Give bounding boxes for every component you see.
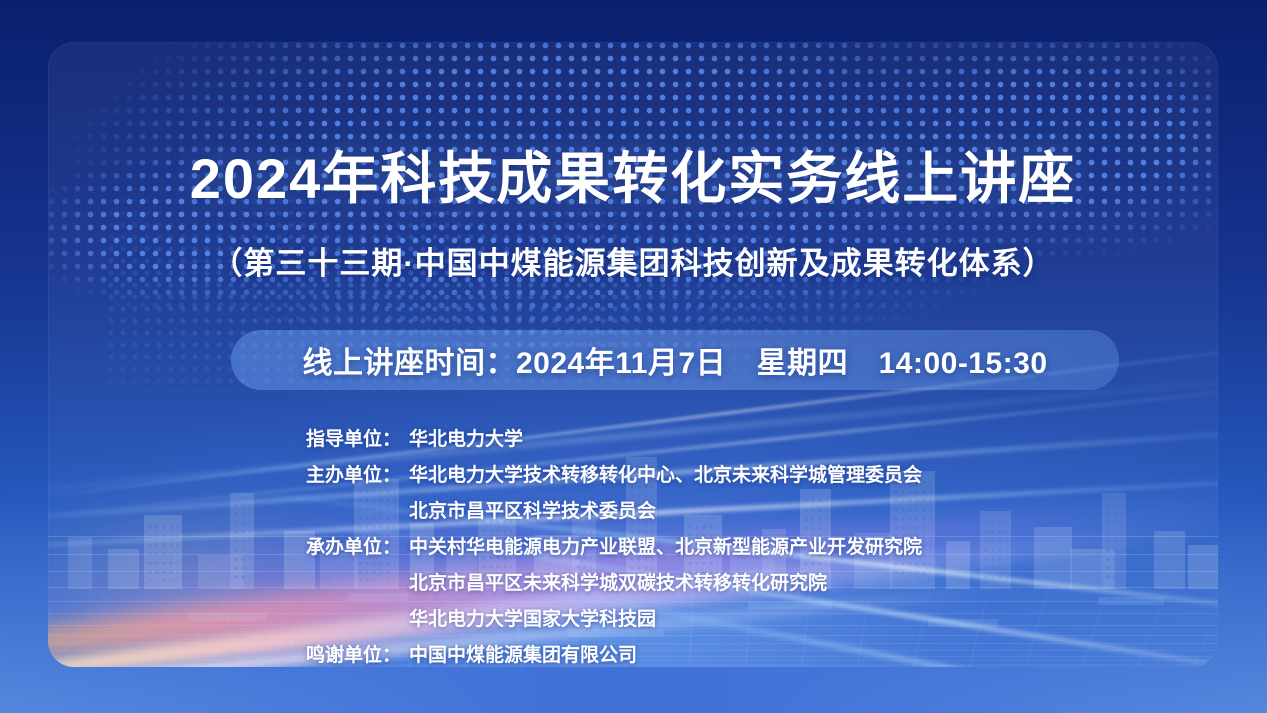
credit-row: 承办单位：中关村华电能源电力产业联盟、北京新型能源产业开发研究院 — [283, 532, 983, 559]
credit-value: 北京市昌平区科学技术委员会 — [401, 496, 656, 523]
credit-row: 鸣谢单位：中国中煤能源集团有限公司 — [283, 640, 983, 667]
credit-value: 中国中煤能源集团有限公司 — [401, 640, 637, 667]
schedule-text: 线上讲座时间：2024年11月7日 星期四 14:00-15:30 — [302, 338, 1047, 382]
credit-value: 华北电力大学技术转移转化中心、北京未来科学城管理委员会 — [401, 460, 922, 487]
content-panel: 2024年科技成果转化实务线上讲座 （第三十三期·中国中煤能源集团科技创新及成果… — [48, 42, 1218, 667]
credit-label: 主办单位： — [283, 460, 401, 487]
credits-block: 指导单位：华北电力大学主办单位：华北电力大学技术转移转化中心、北京未来科学城管理… — [48, 424, 1218, 667]
credit-label — [283, 604, 401, 631]
credit-label: 指导单位： — [283, 424, 401, 451]
credit-row: 北京市昌平区科学技术委员会 — [283, 496, 983, 523]
schedule-banner: 线上讲座时间：2024年11月7日 星期四 14:00-15:30 — [231, 330, 1119, 390]
credit-row: 主办单位：华北电力大学技术转移转化中心、北京未来科学城管理委员会 — [283, 460, 983, 487]
credit-row: 指导单位：华北电力大学 — [283, 424, 983, 451]
page-subtitle: （第三十三期·中国中煤能源集团科技创新及成果转化体系） — [48, 238, 1218, 283]
credit-value: 北京市昌平区未来科学城双碳技术转移转化研究院 — [401, 568, 827, 595]
page-title: 2024年科技成果转化实务线上讲座 — [48, 134, 1218, 215]
credit-label — [283, 568, 401, 595]
credit-value: 中关村华电能源电力产业联盟、北京新型能源产业开发研究院 — [401, 532, 922, 559]
credit-value: 华北电力大学 — [401, 424, 523, 451]
credit-label: 承办单位： — [283, 532, 401, 559]
credit-row: 华北电力大学国家大学科技园 — [283, 604, 983, 631]
credit-value: 华北电力大学国家大学科技园 — [401, 604, 656, 631]
credit-row: 北京市昌平区未来科学城双碳技术转移转化研究院 — [283, 568, 983, 595]
credit-label: 鸣谢单位： — [283, 640, 401, 667]
credit-label — [283, 496, 401, 523]
poster-canvas: 2024年科技成果转化实务线上讲座 （第三十三期·中国中煤能源集团科技创新及成果… — [0, 0, 1267, 713]
